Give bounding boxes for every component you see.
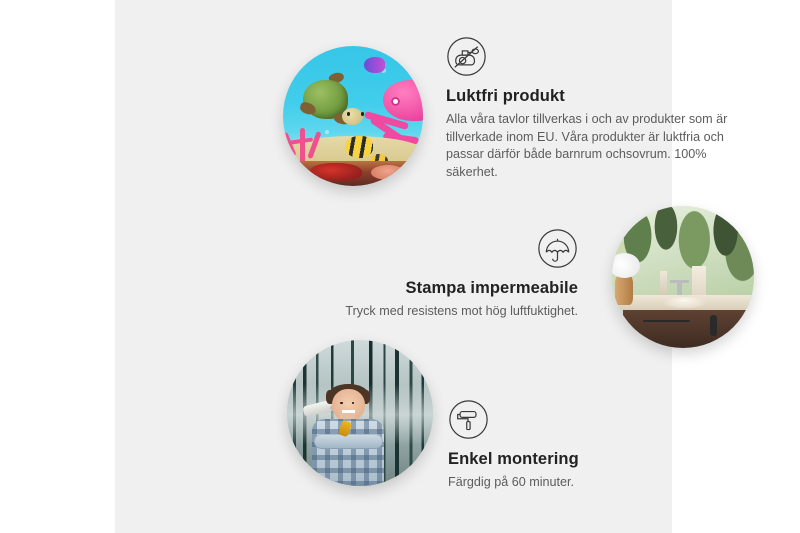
screenshot-stage: Luktfri produkt Alla våra tavlor tillver… <box>0 0 800 533</box>
painter-person <box>307 378 389 486</box>
sink-basin <box>663 297 706 308</box>
feature-title: Stampa impermeabile <box>320 279 578 298</box>
feature-title: Luktfri produkt <box>446 87 746 106</box>
photo-bathroom <box>612 206 754 348</box>
coral-icon <box>283 116 331 164</box>
photo-underwater <box>283 46 423 186</box>
photo-painter <box>287 340 433 486</box>
underwater-scene <box>283 46 423 186</box>
leaf-wallpaper <box>612 206 754 300</box>
fish-purple-icon <box>364 57 385 72</box>
feature-body: Färgdig på 60 minuter. <box>448 474 688 492</box>
umbrella-icon <box>537 228 578 269</box>
feature-title: Enkel montering <box>448 450 688 469</box>
fish-striped-icon <box>345 136 373 158</box>
turtle-head <box>342 108 363 125</box>
feature-body: Alla våra tavlor tillverkas i och av pro… <box>446 111 746 181</box>
bathroom-scene <box>612 206 754 348</box>
feature-odourless: Luktfri produkt Alla våra tavlor tillver… <box>446 36 746 181</box>
content-panel: Luktfri produkt Alla våra tavlor tillver… <box>115 0 672 533</box>
paint-roller-icon <box>448 399 489 440</box>
feature-body: Tryck med resistens mot hög luftfuktighe… <box>320 303 578 321</box>
feature-easy-mounting: Enkel montering Färgdig på 60 minuter. <box>448 399 688 492</box>
reef-band <box>283 161 423 186</box>
eye <box>352 402 354 403</box>
feature-waterproof: Stampa impermeabile Tryck med resistens … <box>320 228 578 321</box>
no-perfume-icon <box>446 36 487 77</box>
octopus-head <box>383 80 423 122</box>
vase <box>615 274 633 305</box>
forest-scene <box>287 340 433 486</box>
vanity-cabinet <box>623 310 754 348</box>
eye <box>340 402 342 403</box>
crossed-arms <box>314 434 383 449</box>
